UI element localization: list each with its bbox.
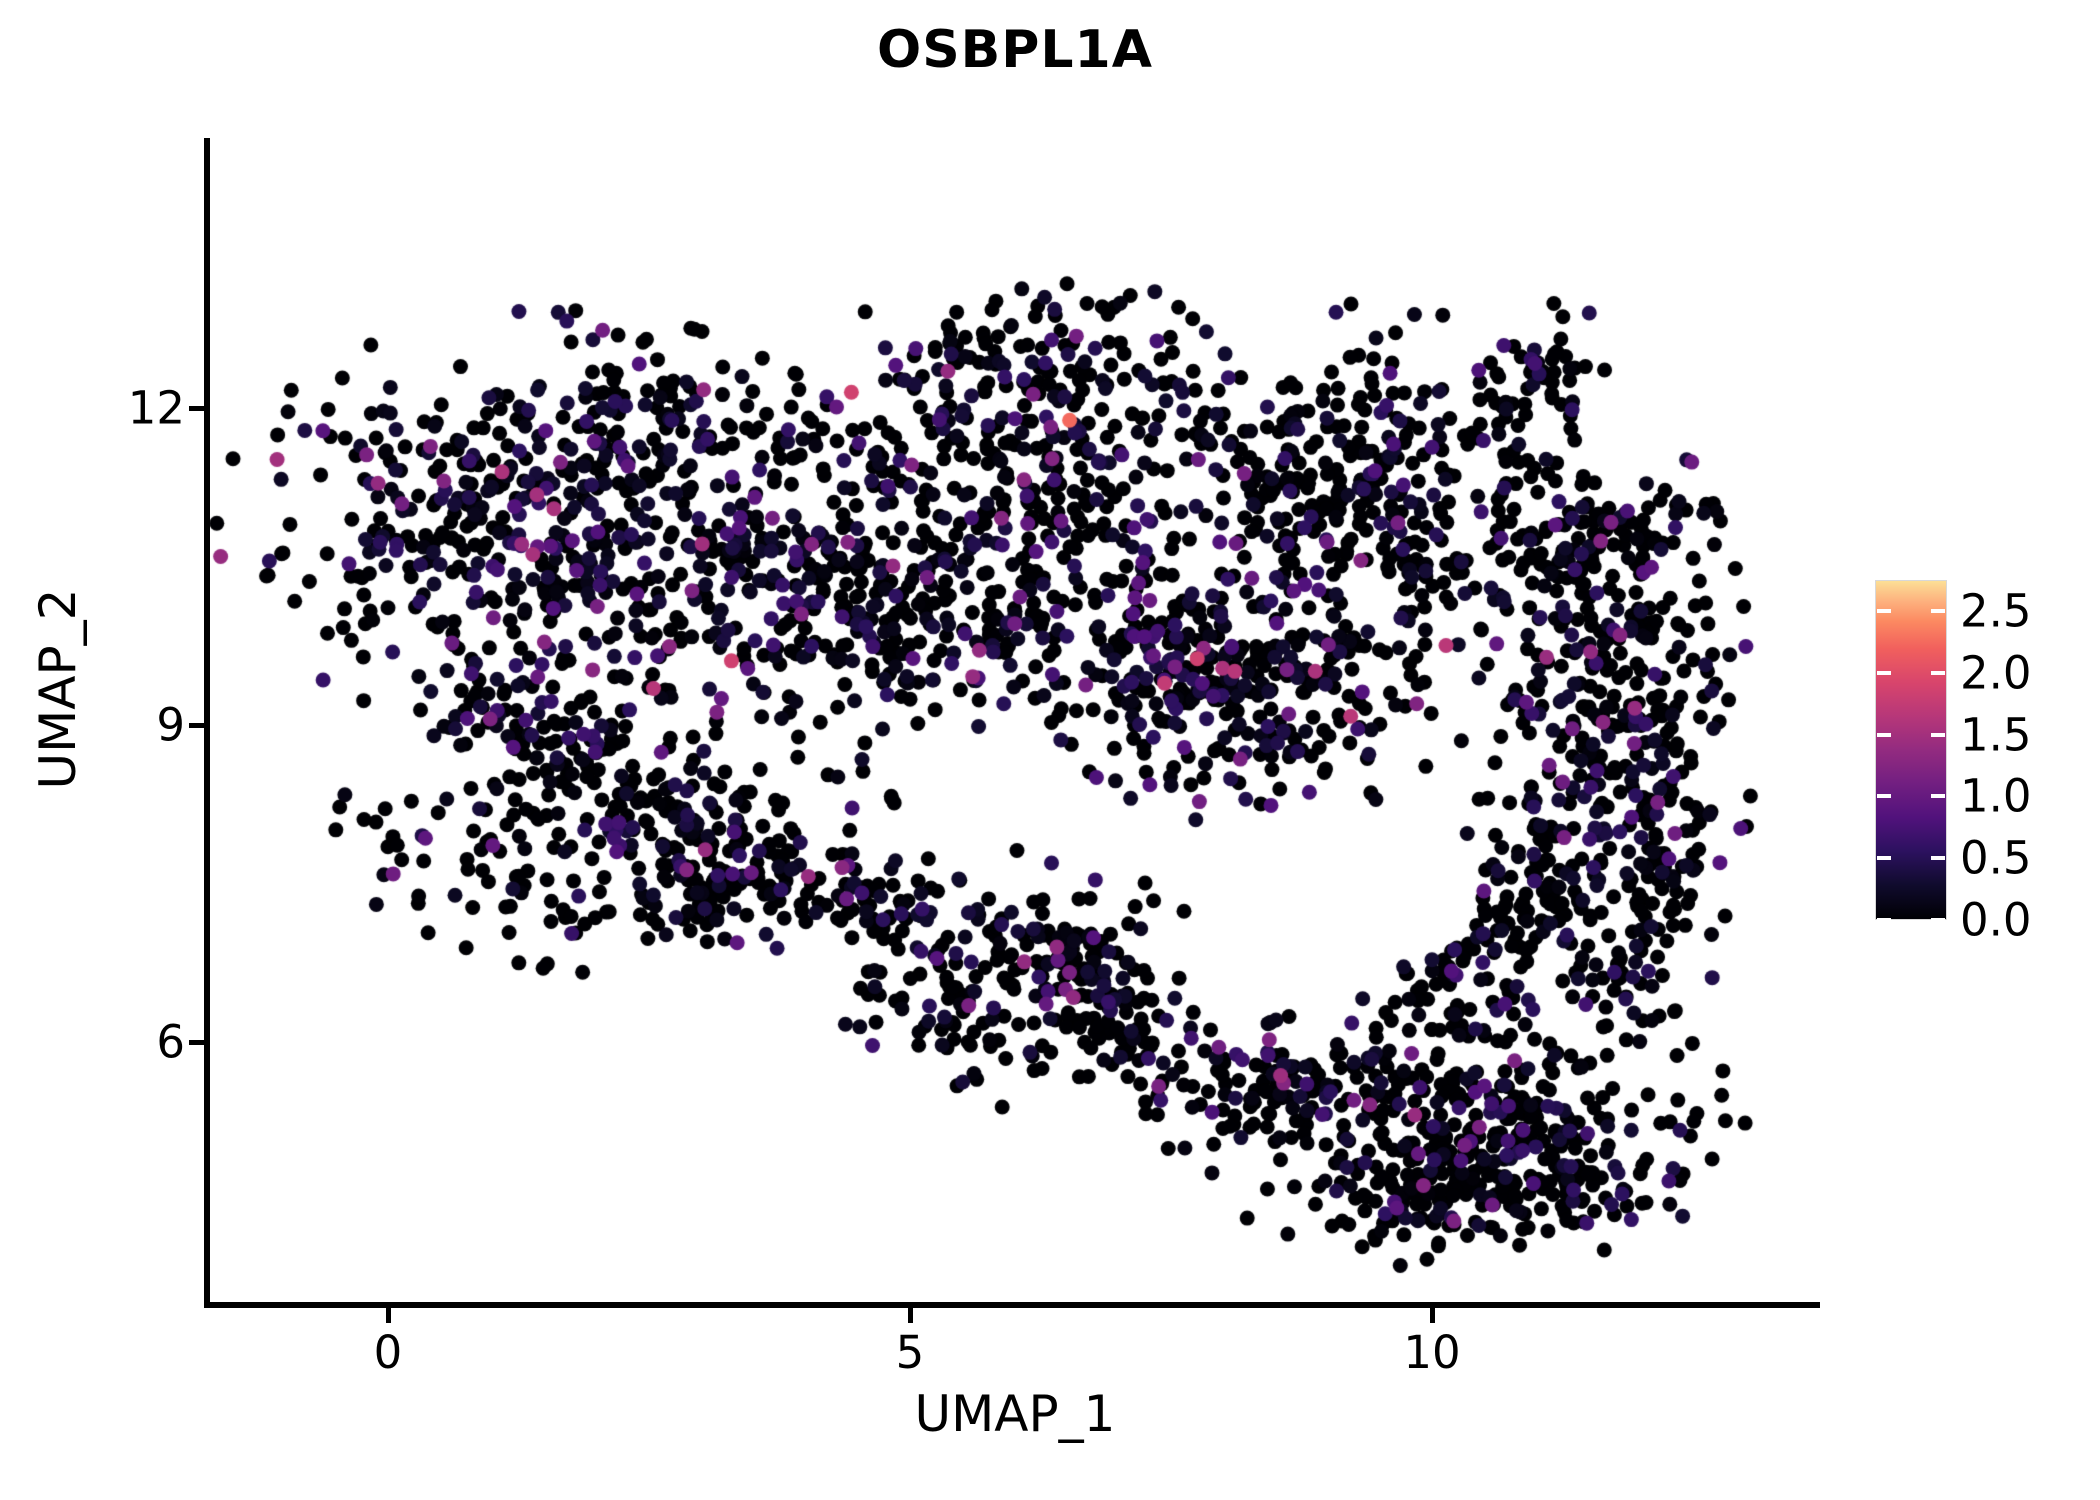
colorbar-tick-label: 2.0	[1960, 646, 2032, 699]
colorbar-tick-label: 0.0	[1960, 894, 2032, 947]
x-axis-label: UMAP_1	[210, 1385, 1820, 1443]
x-tick-mark	[386, 1305, 391, 1323]
colorbar-tick-mark	[1877, 856, 1891, 860]
colorbar-tick-mark	[1931, 671, 1945, 675]
page-title: OSBPL1A	[210, 20, 1820, 80]
y-tick-mark	[189, 723, 207, 728]
y-tick-label: 6	[0, 1016, 185, 1069]
colorbar	[1875, 580, 1947, 920]
colorbar-tick-mark	[1931, 918, 1945, 922]
y-tick-mark	[189, 1040, 207, 1045]
x-tick-label: 0	[288, 1326, 488, 1379]
y-axis-label: UMAP_2	[29, 339, 87, 1039]
y-tick-label: 9	[0, 699, 185, 752]
colorbar-tick-mark	[1877, 733, 1891, 737]
scatter-plot-points	[0, 0, 2100, 1500]
colorbar-tick-label: 1.5	[1960, 708, 2032, 761]
x-axis-spine	[204, 1302, 1820, 1308]
figure-canvas: OSBPL1A 69120510 UMAP_1 UMAP_2 0.00.51.0…	[0, 0, 2100, 1500]
colorbar-tick-mark	[1877, 671, 1891, 675]
y-tick-mark	[189, 406, 207, 411]
colorbar-tick-mark	[1877, 609, 1891, 613]
y-tick-label: 12	[0, 382, 185, 435]
colorbar-gradient	[1875, 580, 1947, 920]
x-tick-label: 5	[810, 1326, 1010, 1379]
colorbar-tick-mark	[1877, 794, 1891, 798]
colorbar-tick-mark	[1931, 733, 1945, 737]
colorbar-tick-mark	[1931, 609, 1945, 613]
colorbar-tick-mark	[1877, 918, 1891, 922]
colorbar-tick-label: 1.0	[1960, 770, 2032, 823]
x-tick-mark	[908, 1305, 913, 1323]
colorbar-tick-mark	[1931, 794, 1945, 798]
colorbar-tick-mark	[1931, 856, 1945, 860]
x-tick-mark	[1430, 1305, 1435, 1323]
colorbar-tick-label: 0.5	[1960, 832, 2032, 885]
colorbar-tick-label: 2.5	[1960, 584, 2032, 637]
x-tick-label: 10	[1332, 1326, 1532, 1379]
